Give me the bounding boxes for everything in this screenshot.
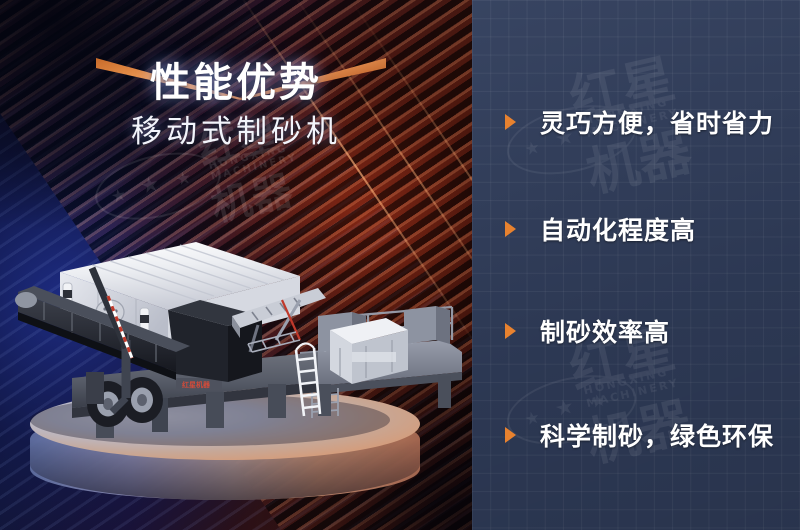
triangle-right-icon (505, 323, 516, 339)
triangle-right-icon (505, 114, 516, 130)
feature-item-2[interactable]: 自动化程度高 (505, 211, 696, 247)
triangle-right-icon (505, 221, 516, 237)
feature-label: 灵巧方便，省时省力 (540, 104, 774, 140)
svg-text:红星机器: 红星机器 (182, 380, 211, 389)
promo-banner: ★ ★ ★ 红星机器 HONGXING MACHINERY (0, 0, 800, 530)
features-panel: ★ ★ ★ 红星机器 HONGXING MACHINERY ★ ★ ★ 红星机器… (472, 0, 800, 530)
feature-label: 科学制砂，绿色环保 (540, 417, 774, 453)
feature-item-1[interactable]: 灵巧方便，省时省力 (505, 104, 774, 140)
page-subtitle: 移动式制砂机 (0, 106, 472, 151)
triangle-right-icon (505, 427, 516, 443)
left-hero-panel: ★ ★ ★ 红星机器 HONGXING MACHINERY (0, 0, 472, 530)
feature-label: 制砂效率高 (540, 313, 670, 349)
title-block: 性能优势 移动式制砂机 (0, 22, 472, 142)
page-title: 性能优势 (0, 50, 472, 108)
feature-item-4[interactable]: 科学制砂，绿色环保 (505, 417, 774, 453)
feature-item-3[interactable]: 制砂效率高 (505, 313, 670, 349)
feature-label: 自动化程度高 (540, 211, 696, 247)
